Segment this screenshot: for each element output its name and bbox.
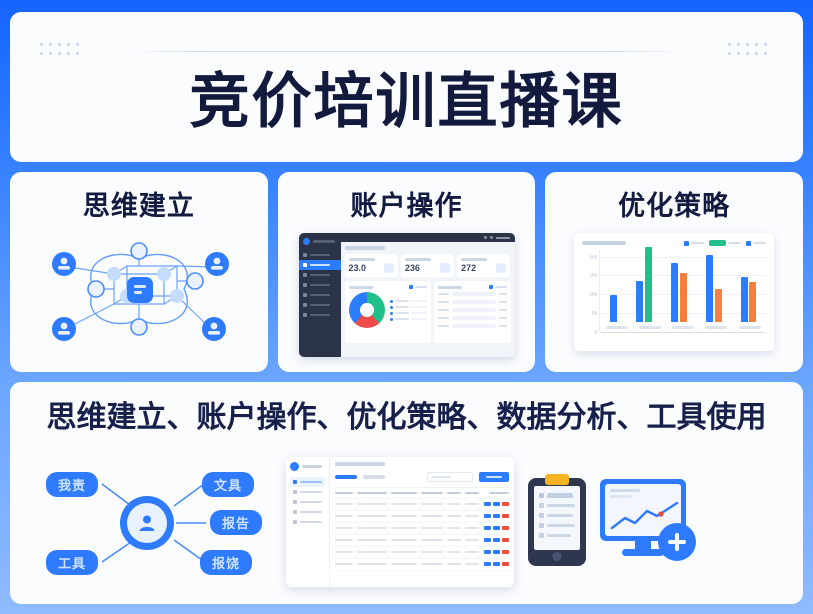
dashboard-nav-item[interactable] xyxy=(299,270,341,280)
chart-legend xyxy=(684,240,766,246)
stat-card: 236 xyxy=(401,254,454,277)
dashboard-nav-item[interactable] xyxy=(299,290,341,300)
feature-card-mindset: 思维建立 xyxy=(10,172,268,372)
header-divider xyxy=(130,51,683,52)
ytick: 100 xyxy=(590,292,598,297)
table-row[interactable] xyxy=(335,559,509,571)
bottom-card: 思维建立、账户操作、优化策略、数据分析、工具使用 我责 文具 报告 工具 报饶 xyxy=(10,382,803,604)
table-nav-item[interactable] xyxy=(290,487,325,497)
dot-grid-icon-left xyxy=(40,43,85,61)
card-title-account: 账户操作 xyxy=(351,184,463,223)
chart-title xyxy=(582,241,626,245)
mindmap-center-hub xyxy=(120,496,174,550)
stat-icon xyxy=(440,263,450,273)
dashboard-content: 23.0 236 272 xyxy=(341,233,515,357)
ytick: 50 xyxy=(592,311,597,316)
dashboard-sidebar xyxy=(299,233,341,357)
dashboard-mockup: 23.0 236 272 xyxy=(299,233,515,357)
ytick: 200 xyxy=(590,254,598,259)
stat-icon xyxy=(496,263,506,273)
dashboard-nav-item[interactable] xyxy=(299,250,341,260)
dashboard-nav-item[interactable] xyxy=(299,300,341,310)
table-row[interactable] xyxy=(335,535,509,547)
dashboard-breadcrumb xyxy=(345,246,385,250)
table-mockup xyxy=(286,457,514,587)
table-row[interactable] xyxy=(335,511,509,523)
topics-banner: 思维建立、账户操作、优化策略、数据分析、工具使用 xyxy=(47,392,767,436)
bar-chart-mockup: 0 50 100 150 200 xyxy=(574,233,774,351)
plus-circle-icon[interactable] xyxy=(658,523,696,561)
page-title: 竞价培训直播课 xyxy=(190,53,624,140)
stat-value: 23.0 xyxy=(349,264,375,273)
table-nav-item[interactable] xyxy=(290,517,325,527)
ytick: 0 xyxy=(595,330,598,335)
feature-card-strategy: 优化策略 0 50 100 150 200 xyxy=(545,172,803,372)
card-title-strategy: 优化策略 xyxy=(618,184,730,223)
chart-x-axis xyxy=(600,322,766,332)
chart-plot-area: 0 50 100 150 200 xyxy=(582,250,766,332)
stat-card: 23.0 xyxy=(345,254,398,277)
dashboard-nav-item-active[interactable] xyxy=(299,260,341,270)
stat-value: 236 xyxy=(405,264,431,273)
bottom-icon-group xyxy=(528,478,696,566)
chart-y-axis: 0 50 100 150 200 xyxy=(582,250,599,332)
dashboard-topbar xyxy=(341,233,515,242)
bar-group xyxy=(671,263,687,322)
table-row[interactable] xyxy=(335,547,509,559)
stat-value: 272 xyxy=(461,264,487,273)
donut-panel xyxy=(345,281,431,343)
dashboard-panel-row xyxy=(345,281,511,343)
poster-root: 竞价培训直播课 思维建立 xyxy=(0,0,813,614)
table-nav-item[interactable] xyxy=(290,507,325,517)
clipboard-checklist-icon xyxy=(528,478,586,566)
horizontal-bar-chart xyxy=(438,292,507,328)
feature-card-account: 账户操作 23.0 xyxy=(278,172,536,372)
table-sidebar xyxy=(286,457,330,587)
table-page-title xyxy=(335,462,385,466)
dashboard-nav-item[interactable] xyxy=(299,310,341,320)
mindmap-graphic: 我责 文具 报告 工具 报饶 xyxy=(24,460,276,584)
mindmap-node-2[interactable]: 文具 xyxy=(202,472,254,497)
mindmap-node-3[interactable]: 报告 xyxy=(210,510,262,535)
mindmap-node-1[interactable]: 我责 xyxy=(46,472,98,497)
bar-group xyxy=(610,295,617,322)
mindmap-node-5[interactable]: 报饶 xyxy=(200,550,252,575)
dashboard-nav-item[interactable] xyxy=(299,280,341,290)
table-primary-button[interactable] xyxy=(479,472,509,482)
stat-icon xyxy=(384,263,394,273)
donut-legend xyxy=(390,300,427,321)
bar-group xyxy=(636,247,652,322)
legend-item-series-2 xyxy=(709,240,741,246)
table-grid xyxy=(335,487,509,571)
table-header-row xyxy=(335,488,509,499)
table-tab-active[interactable] xyxy=(335,475,357,479)
table-nav-item[interactable] xyxy=(290,497,325,507)
mindmap-node-4[interactable]: 工具 xyxy=(46,550,98,575)
table-row[interactable] xyxy=(335,499,509,511)
card-title-mindset: 思维建立 xyxy=(83,184,195,223)
feature-card-row: 思维建立 xyxy=(10,172,803,372)
chart-bars xyxy=(599,250,766,332)
user-avatar-icon xyxy=(136,512,158,534)
ytick: 150 xyxy=(590,273,598,278)
header-card: 竞价培训直播课 xyxy=(10,12,803,162)
table-row[interactable] xyxy=(335,523,509,535)
dashboard-logo xyxy=(299,238,341,250)
table-nav-item-active[interactable] xyxy=(290,477,325,487)
dashboard-stat-row: 23.0 236 272 xyxy=(345,254,511,277)
network-diagram-icon xyxy=(39,229,239,349)
stat-card: 272 xyxy=(457,254,510,277)
legend-item-series-1 xyxy=(684,241,704,246)
table-logo xyxy=(290,462,325,471)
table-toolbar xyxy=(335,472,509,482)
table-content xyxy=(330,457,514,587)
donut-chart xyxy=(349,292,385,328)
bottom-graphics-row: 我责 文具 报告 工具 报饶 xyxy=(10,436,803,604)
table-search-input[interactable] xyxy=(427,472,473,482)
monitor-line-chart-icon xyxy=(600,479,696,565)
table-tab[interactable] xyxy=(363,475,385,479)
dot-grid-icon-right xyxy=(728,43,773,61)
legend-item-series-3 xyxy=(746,241,766,246)
bar-group xyxy=(706,255,722,322)
bar-group xyxy=(741,277,757,322)
hbar-panel xyxy=(434,281,511,343)
